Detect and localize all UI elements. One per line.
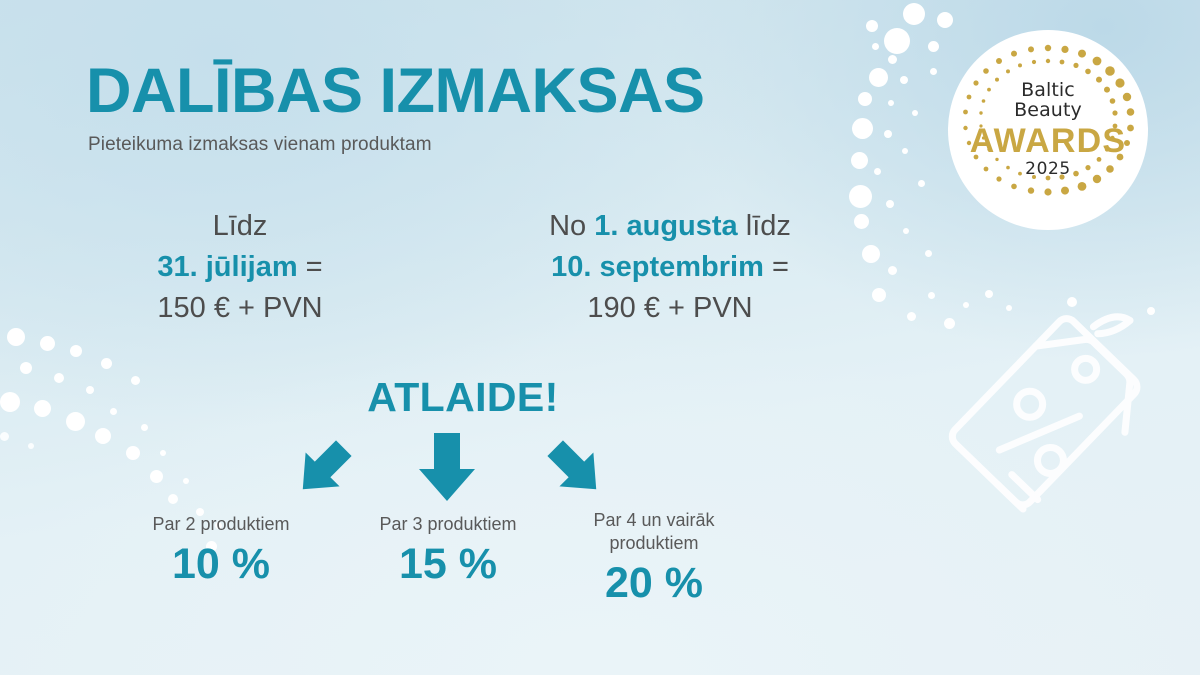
participation-cost-poster: Baltic Beauty AWARDS 2025 DALĪBAS IZMAKS… bbox=[0, 0, 1200, 675]
price-early-amount: 150 € + PVN bbox=[90, 288, 390, 329]
price-block-late: No 1. augusta līdz 10. septembrim = 190 … bbox=[500, 206, 840, 330]
discount-tier-label: Par 4 un vairāk produktiem bbox=[558, 509, 750, 555]
price-tag-percent-icon bbox=[900, 285, 1200, 585]
page-subtitle: Pieteikuma izmaksas vienam produktam bbox=[88, 134, 432, 156]
discount-tier-value: 10 % bbox=[103, 540, 339, 588]
price-early-date: 31. jūlijam bbox=[157, 251, 297, 283]
price-late-date-to: 10. septembrim bbox=[551, 251, 764, 283]
price-early-line-2: 31. jūlijam = bbox=[90, 247, 390, 288]
arrow-down-icon bbox=[411, 431, 483, 503]
arrow-down-left-icon bbox=[292, 436, 356, 500]
price-late-prefix: No bbox=[549, 210, 586, 242]
discount-heading: ATLAIDE! bbox=[280, 377, 646, 418]
baltic-beauty-awards-badge: Baltic Beauty AWARDS 2025 bbox=[948, 30, 1148, 230]
price-late-line-2: 10. septembrim = bbox=[500, 247, 840, 288]
discount-tier-value: 15 % bbox=[333, 540, 563, 588]
discount-tier: Par 3 produktiem 15 % bbox=[333, 513, 563, 588]
discount-tier: Par 2 produktiem 10 % bbox=[103, 513, 339, 588]
price-block-early: Līdz 31. jūlijam = 150 € + PVN bbox=[90, 206, 390, 330]
discount-tier: Par 4 un vairāk produktiem 20 % bbox=[558, 509, 750, 607]
badge-year: 2025 bbox=[1025, 159, 1071, 179]
price-late-equals: = bbox=[772, 251, 789, 283]
price-early-line-1: Līdz bbox=[90, 206, 390, 247]
discount-tier-label: Par 2 produktiem bbox=[103, 513, 339, 536]
discount-tier-value: 20 % bbox=[558, 559, 750, 607]
badge-line-2: Beauty bbox=[1014, 101, 1082, 121]
price-early-prefix: Līdz bbox=[213, 210, 268, 242]
price-late-date-from: 1. augusta bbox=[594, 210, 737, 242]
discount-tier-label: Par 3 produktiem bbox=[333, 513, 563, 536]
page-title: DALĪBAS IZMAKSAS bbox=[86, 60, 705, 123]
arrow-down-right-icon bbox=[543, 436, 607, 500]
badge-awards-word: AWARDS bbox=[970, 124, 1126, 158]
price-late-line-1: No 1. augusta līdz bbox=[500, 206, 840, 247]
price-late-middle: līdz bbox=[746, 210, 791, 242]
price-late-amount: 190 € + PVN bbox=[500, 288, 840, 329]
price-early-equals: = bbox=[306, 251, 323, 283]
